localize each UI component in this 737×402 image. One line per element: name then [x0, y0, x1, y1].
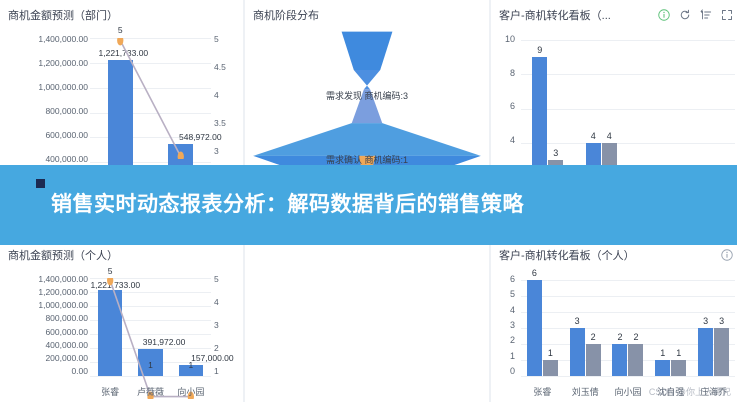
y-tick: 6 — [495, 274, 515, 284]
plot-area: 1,221,733.00391,972.00157,000.00 511 — [90, 278, 211, 376]
y-tick: 10 — [495, 34, 515, 44]
y-tick-left: 200,000.00 — [45, 353, 88, 363]
line-point-label: 1 — [148, 360, 153, 370]
y-tick-right: 3 — [214, 146, 219, 156]
bar[interactable]: 2 — [612, 344, 627, 376]
bar[interactable]: 6 — [527, 280, 542, 376]
y-tick-left: 1,000,000.00 — [38, 300, 88, 310]
panel-title: 商机阶段分布 — [253, 7, 319, 23]
fullscreen-icon[interactable] — [721, 9, 733, 21]
bar-value-label: 3 — [698, 316, 713, 326]
bar-pair[interactable]: 32 — [570, 280, 601, 376]
panel-toolbar — [658, 9, 733, 21]
x-tick: 张睿 — [92, 385, 128, 398]
y-tick-right: 2 — [214, 343, 219, 353]
grid-line — [521, 376, 735, 377]
info-icon[interactable] — [721, 249, 733, 261]
plot-area: 6132221133 — [521, 280, 735, 376]
x-tick: 刘玉倩 — [564, 385, 607, 398]
grid-line — [90, 376, 211, 377]
refresh-icon[interactable] — [679, 9, 691, 21]
y-tick-left: 1,200,000.00 — [38, 287, 88, 297]
y-tick: 4 — [495, 135, 515, 145]
y-tick-left: 1,200,000.00 — [38, 58, 88, 68]
y-tick-left: 600,000.00 — [45, 130, 88, 140]
bar-value-label: 2 — [628, 332, 643, 342]
bar[interactable]: 3 — [698, 328, 713, 376]
y-tick-right: 3.5 — [214, 118, 226, 128]
sort-icon[interactable] — [700, 9, 712, 21]
y-tick-right: 5 — [214, 274, 219, 284]
y-tick-left: 400,000.00 — [45, 154, 88, 164]
line-point-label: 5 — [118, 25, 123, 35]
panel-header: 商机金额预测（部门） — [0, 0, 243, 26]
y-tick-left: 1,400,000.00 — [38, 274, 88, 284]
y-tick: 1 — [495, 351, 515, 361]
bullet-marker — [36, 179, 45, 188]
y-axis-left: 1,400,000.001,200,000.001,000,000.00800,… — [2, 274, 88, 376]
y-tick: 2 — [495, 335, 515, 345]
bar-group: 6132221133 — [521, 280, 735, 376]
x-tick: 向小园 — [173, 385, 209, 398]
bar[interactable]: 1 — [543, 360, 558, 376]
bar-value-label: 1 — [543, 348, 558, 358]
panel-title: 商机金额预测（个人） — [8, 247, 118, 263]
y-tick-left: 400,000.00 — [45, 340, 88, 350]
bar[interactable]: 1 — [671, 360, 686, 376]
bar-value-label: 4 — [602, 131, 617, 141]
bar-value-label: 1 — [671, 348, 686, 358]
bar-pair[interactable]: 22 — [612, 280, 643, 376]
y-tick: 8 — [495, 68, 515, 78]
y-tick-left: 0.00 — [71, 366, 88, 376]
y-tick-left: 800,000.00 — [45, 106, 88, 116]
overlay-banner: 销售实时动态报表分析：解码数据背后的销售策略 — [0, 165, 737, 245]
y-tick: 6 — [495, 101, 515, 111]
y-tick-left: 600,000.00 — [45, 327, 88, 337]
panel-title: 客户-商机转化看板（个人） — [499, 247, 635, 263]
y-tick-right: 4.5 — [214, 62, 226, 72]
y-tick: 3 — [495, 320, 515, 330]
y-tick: 5 — [495, 289, 515, 299]
y-tick: 4 — [495, 305, 515, 315]
bar[interactable]: 1 — [655, 360, 670, 376]
bar[interactable]: 3 — [714, 328, 729, 376]
line-point-label: 5 — [108, 266, 113, 276]
bar-value-label: 3 — [570, 316, 585, 326]
overlay-headline: 销售实时动态报表分析：解码数据背后的销售策略 — [51, 192, 524, 218]
bar-value-label: 548,972.00 — [179, 132, 222, 142]
bar[interactable] — [98, 290, 123, 376]
y-tick-right: 5 — [214, 34, 219, 44]
bar-value-label: 2 — [612, 332, 627, 342]
panel-toolbar — [721, 249, 733, 261]
bar-value-label: 2 — [586, 332, 601, 342]
x-tick: 卢薇薇 — [132, 385, 168, 398]
bar-value-label: 3 — [714, 316, 729, 326]
bar-pair[interactable]: 61 — [527, 280, 558, 376]
y-tick-left: 800,000.00 — [45, 313, 88, 323]
x-tick: 张睿 — [521, 385, 564, 398]
y-tick-left: 1,400,000.00 — [38, 34, 88, 44]
y-tick-right: 1 — [214, 366, 219, 376]
panel-person-board: 客户-商机转化看板（个人） 6543210 6132221133 张睿刘玉倩向小… — [491, 240, 737, 402]
panel-person-amount: 商机金额预测（个人） 1,400,000.001,200,000.001,000… — [0, 240, 243, 402]
chart-person-amount: 1,400,000.001,200,000.001,000,000.00800,… — [0, 266, 243, 402]
panel-title: 客户-商机转化看板（... — [499, 7, 611, 23]
y-tick-right: 4 — [214, 297, 219, 307]
bar[interactable]: 2 — [628, 344, 643, 376]
panel-header: 商机阶段分布 — [245, 0, 489, 26]
panel-title: 商机金额预测（部门） — [8, 7, 118, 23]
bar-column[interactable]: 1,221,733.00 — [94, 278, 125, 376]
bar[interactable]: 2 — [586, 344, 601, 376]
y-tick: 0 — [495, 366, 515, 376]
bar-value-label: 6 — [527, 268, 542, 278]
y-tick-left: 1,000,000.00 — [38, 82, 88, 92]
panel-funnel-lower — [245, 240, 489, 402]
panel-header: 客户-商机转化看板（... — [491, 0, 737, 26]
info-icon[interactable] — [658, 9, 670, 21]
bar-value-label: 1,221,733.00 — [90, 280, 140, 290]
bar-value-label: 4 — [586, 131, 601, 141]
bar-value-label: 1,221,733.00 — [99, 48, 149, 58]
bar-value-label: 9 — [532, 45, 547, 55]
bar-pair[interactable]: 11 — [655, 280, 686, 376]
funnel-label-0: 需求发现 商机编码:3 — [245, 89, 489, 102]
x-tick: 向小园 — [607, 385, 650, 398]
y-axis: 6543210 — [495, 274, 515, 376]
watermark: CSDN @你上人师兄 — [649, 385, 731, 398]
bar-pair[interactable]: 33 — [698, 280, 729, 376]
y-tick-right: 4 — [214, 90, 219, 100]
bar[interactable]: 3 — [570, 328, 585, 376]
bar-value-label: 1 — [655, 348, 670, 358]
chart-person-board: 6543210 6132221133 张睿刘玉倩向小园沈自强庄海乔 — [491, 266, 737, 402]
line-point-label: 1 — [188, 360, 193, 370]
bar-value-label: 3 — [548, 148, 563, 158]
x-axis: 张睿卢薇薇向小园 — [90, 385, 211, 398]
y-tick-right: 3 — [214, 320, 219, 330]
bar-value-label: 157,000.00 — [191, 353, 234, 363]
